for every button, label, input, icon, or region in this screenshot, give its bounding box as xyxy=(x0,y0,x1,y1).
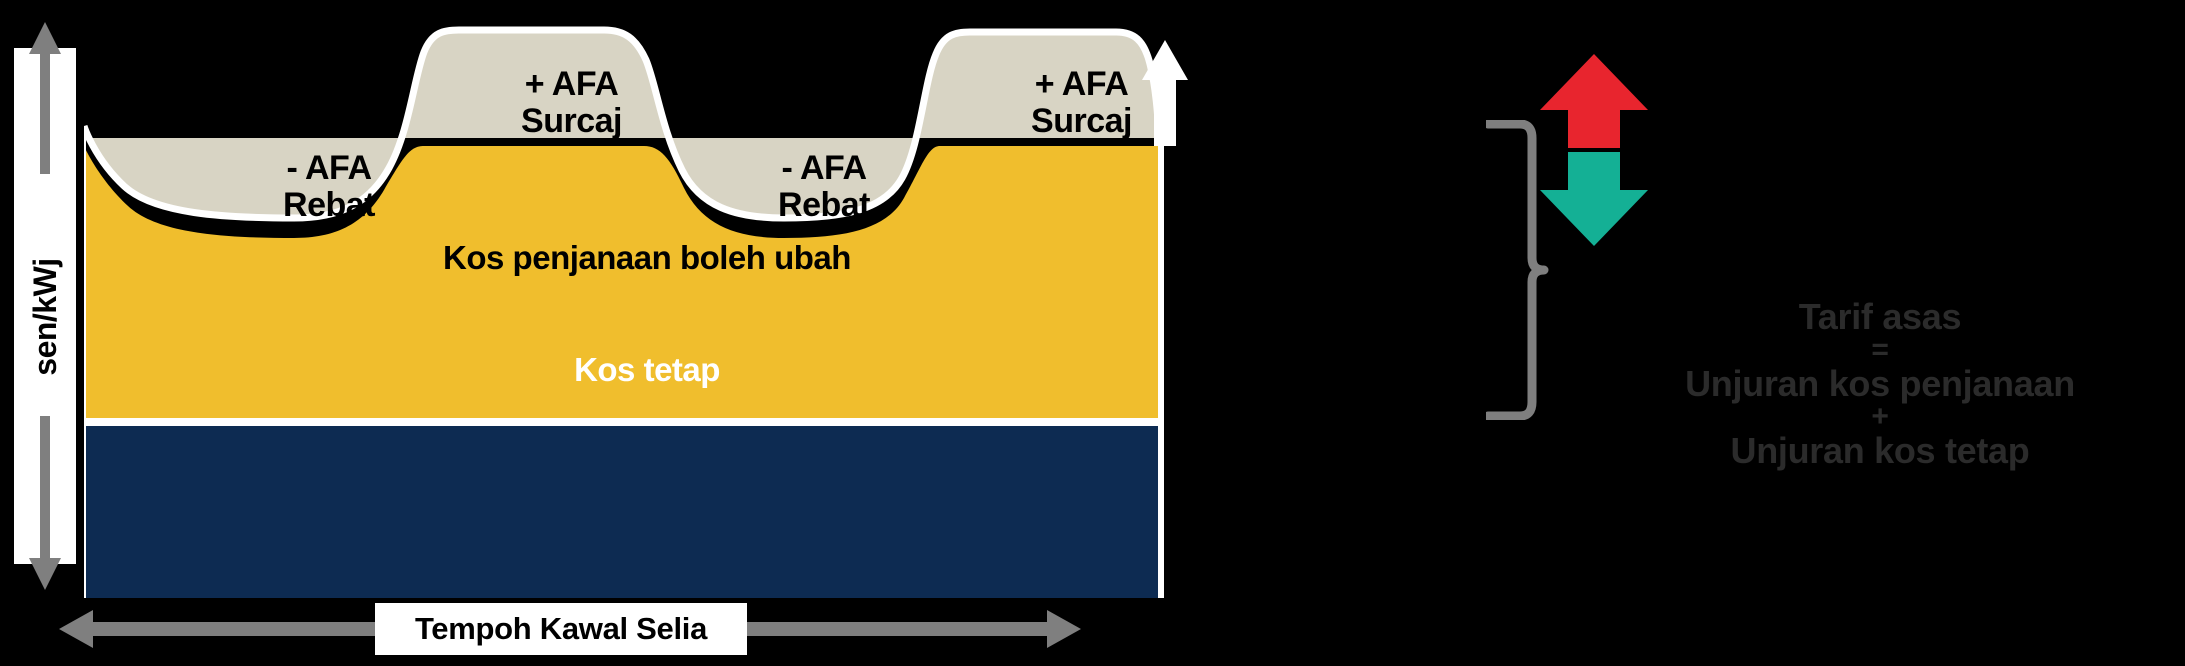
label-afa-rebate-2: - AFA Rebat xyxy=(709,150,939,223)
red-up-arrow-icon xyxy=(1540,54,1648,148)
label-fixed-cost: Kos tetap xyxy=(147,352,1147,388)
x-axis-label: Tempoh Kawal Selia xyxy=(375,603,747,655)
formula-plus: + xyxy=(1600,404,2160,430)
label-afa-surcharge-1: + AFA Surcaj xyxy=(449,66,694,139)
formula-line-2: Unjuran kos penjanaan xyxy=(1600,363,2160,404)
base-tariff-formula: Tarif asas = Unjuran kos penjanaan + Unj… xyxy=(1600,296,2160,471)
y-axis-label-wrap: sen/kWj xyxy=(14,48,76,564)
formula-equals: = xyxy=(1600,337,2160,363)
label-variable-generation-cost: Kos penjanaan boleh ubah xyxy=(147,240,1147,276)
stacked-area-plot: - AFA Rebat + AFA Surcaj - AFA Rebat + A… xyxy=(84,18,1490,598)
y-axis-label: sen/kWj xyxy=(14,202,76,432)
label-afa-rebate-1: - AFA Rebat xyxy=(214,150,444,223)
teal-down-arrow-icon xyxy=(1540,152,1648,246)
tariff-change-arrows xyxy=(1534,52,1654,248)
diagram-canvas: sen/kWj - AFA Rebat + AFA Surcaj - A xyxy=(0,0,2185,666)
formula-line-1: Tarif asas xyxy=(1600,296,2160,337)
label-afa-surcharge-2: + AFA Surcaj xyxy=(959,66,1204,139)
formula-line-3: Unjuran kos tetap xyxy=(1600,430,2160,471)
plot-right-edge xyxy=(1158,138,1164,598)
plot-left-edge xyxy=(84,126,86,598)
band-separator xyxy=(84,418,1158,426)
fixed-cost-band xyxy=(84,426,1158,598)
